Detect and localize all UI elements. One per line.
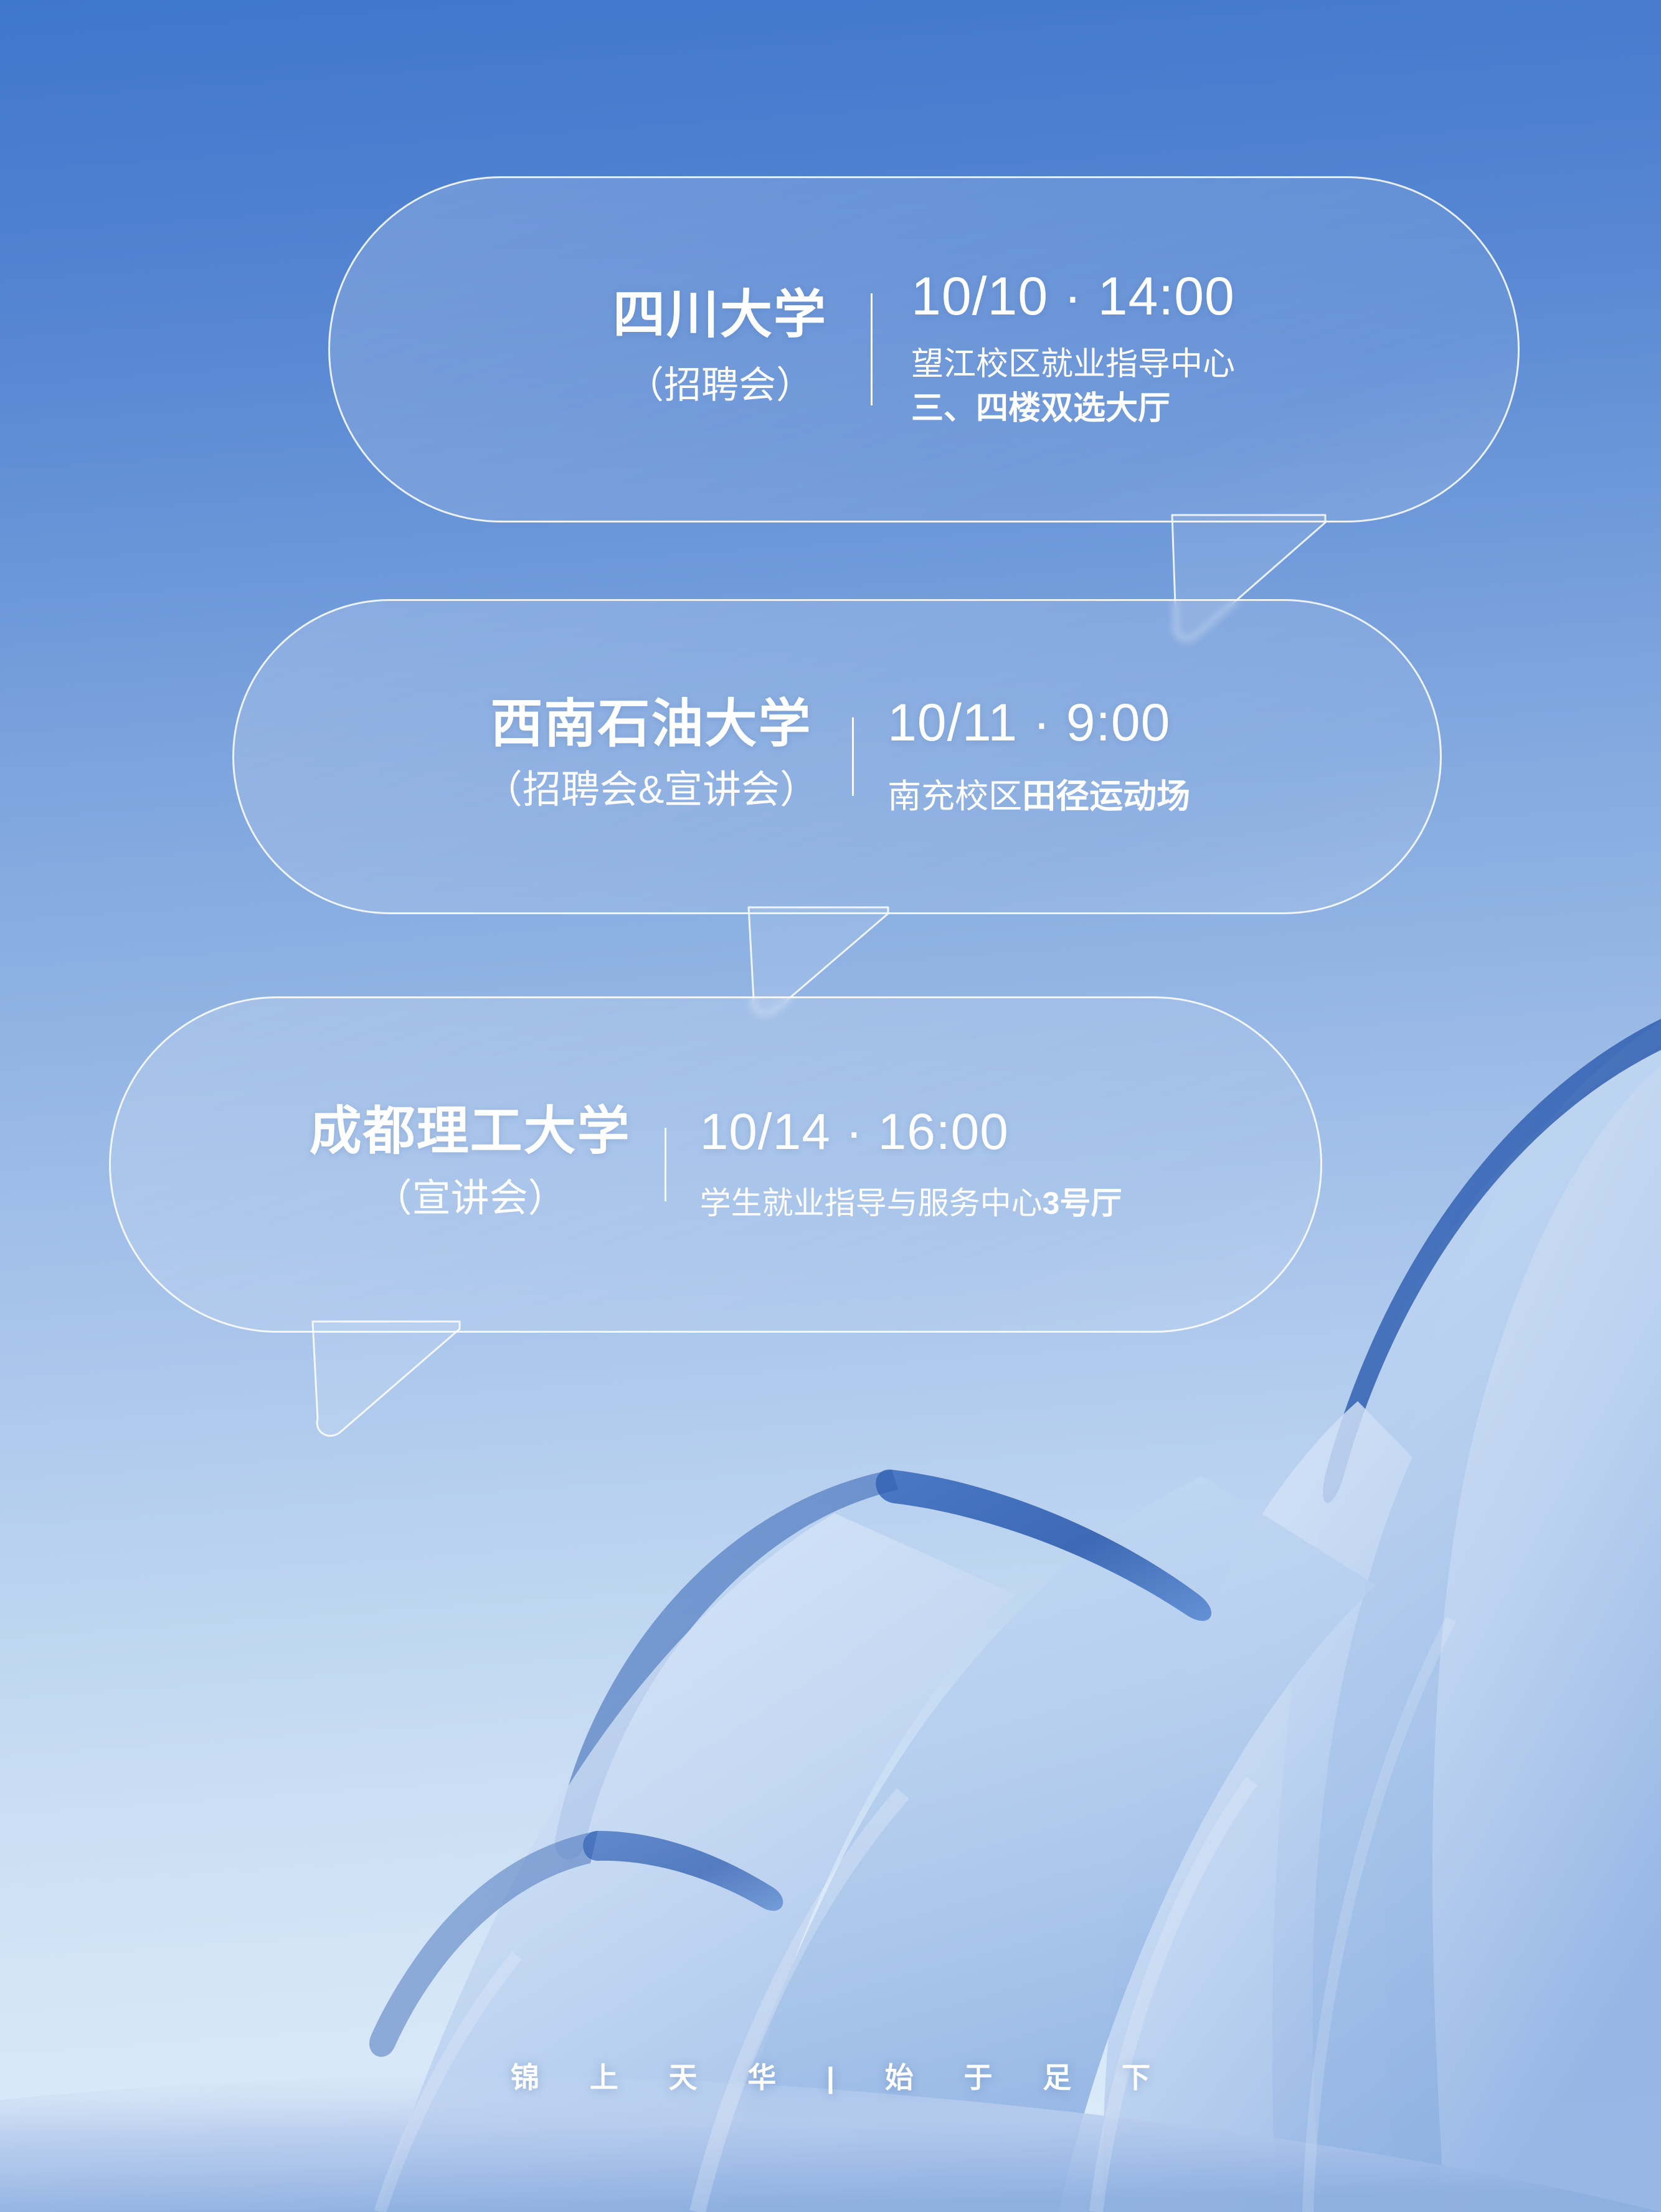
ribbon-center-blade [704,1476,1376,2212]
event-3-datetime: 10/14 · 16:00 [700,1104,1122,1160]
recruitment-poster: 四川大学 （招聘会） 10/10 · 14:00 望江校区就业指导中心 三、四楼… [0,0,1661,2212]
event-2-venue-line1: 南充校区 [887,778,1022,815]
event-row-3: 成都理工大学 （宣讲会） 10/14 · 16:00 学生就业指导与服务中心3号… [111,1102,1320,1227]
event-card-3[interactable]: 成都理工大学 （宣讲会） 10/14 · 16:00 学生就业指导与服务中心3号… [109,996,1322,1333]
event-3-event-type: （宣讲会） [310,1170,631,1227]
event-card-1[interactable]: 四川大学 （招聘会） 10/10 · 14:00 望江校区就业指导中心 三、四楼… [328,176,1520,522]
event-1-venue: 望江校区就业指导中心 三、四楼双选大厅 [911,343,1235,432]
event-card-2[interactable]: 西南石油大学 （招聘会&宣讲会） 10/11 · 9:00 南充校区田径运动场 [232,599,1442,914]
event-3-venue-line2: 3号厅 [1043,1186,1122,1221]
event-2-meta-block: 10/11 · 9:00 南充校区田径运动场 [854,694,1190,820]
ribbon-highlight-3 [1308,1619,1451,2212]
ribbon-left-sheet [381,1513,1015,2212]
event-3-venue-line1: 学生就业指导与服务中心 [700,1186,1043,1221]
ribbon-left-crest [583,1831,783,1911]
ribbon-highlight-2 [1096,1781,1252,2212]
event-2-university-block: 西南石油大学 （招聘会&宣讲会） [484,694,852,818]
event-3-university-name: 成都理工大学 [310,1102,631,1160]
event-1-datetime: 10/10 · 14:00 [911,267,1235,326]
event-2-datetime: 10/11 · 9:00 [887,694,1190,751]
footer-slogan: 锦 上 天 华 | 始 于 足 下 [0,2055,1661,2096]
event-1-venue-line2: 三、四楼双选大厅 [911,390,1170,427]
event-2-university-name: 西南石油大学 [484,694,818,753]
event-1-university-name: 四川大学 [613,285,827,344]
ribbon-right-blade [1272,1046,1661,2212]
event-1-meta-block: 10/10 · 14:00 望江校区就业指导中心 三、四楼双选大厅 [873,267,1235,432]
speech-tail-3-shape [311,1320,536,1451]
event-card-3-tail [311,1320,536,1451]
ribbon-center-crest [876,1470,1211,1621]
ribbon-far-right [1383,1021,1661,2212]
event-row-1: 四川大学 （招聘会） 10/10 · 14:00 望江校区就业指导中心 三、四楼… [330,267,1518,432]
event-1-university-block: 四川大学 （招聘会） [613,285,871,414]
event-2-venue: 南充校区田径运动场 [887,773,1190,820]
event-2-venue-line2: 田径运动场 [1022,778,1190,815]
event-2-event-type: （招聘会&宣讲会） [484,761,818,819]
event-3-university-block: 成都理工大学 （宣讲会） [310,1102,665,1227]
ribbon-left-crest-tail [369,1831,598,2057]
event-1-event-type: （招聘会） [613,357,827,414]
ribbon-highlight-1 [698,1794,903,2212]
event-3-venue: 学生就业指导与服务中心3号厅 [700,1182,1122,1225]
ribbon-center-crest-left [555,1470,898,1860]
event-row-2: 西南石油大学 （招聘会&宣讲会） 10/11 · 9:00 南充校区田径运动场 [234,694,1440,820]
event-1-venue-line1: 望江校区就业指导中心 [911,346,1235,382]
ribbon-right-crest [1323,1019,1661,1503]
event-3-meta-block: 10/14 · 16:00 学生就业指导与服务中心3号厅 [666,1104,1122,1224]
ribbon-floor-sweep [0,2076,1661,2212]
